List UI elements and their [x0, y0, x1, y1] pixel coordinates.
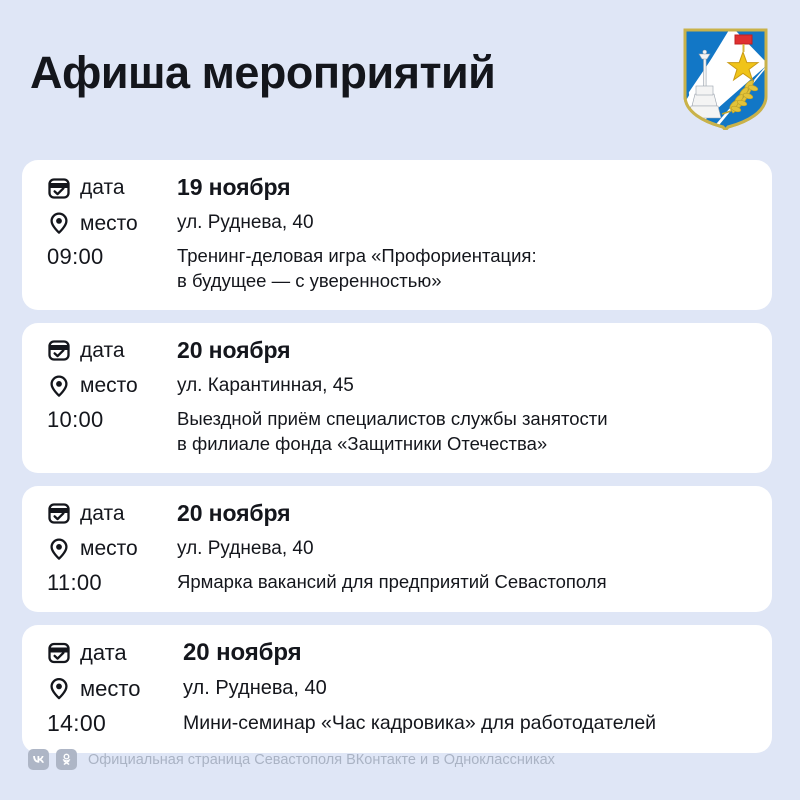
date-label-group: дата [47, 176, 177, 200]
event-place-row: место ул. Руднева, 40 [47, 211, 752, 235]
event-card[interactable]: дата 19 ноября место ул. Руднева, 40 09:… [22, 160, 772, 310]
event-description: Мини-семинар «Час кадровика» для работод… [183, 710, 656, 736]
event-date-value: 19 ноября [177, 174, 291, 201]
calendar-check-icon [47, 338, 71, 362]
event-card[interactable]: дата 20 ноября место ул. Карантинная, 45… [22, 323, 772, 473]
location-pin-icon [47, 537, 71, 561]
place-label: место [80, 213, 138, 234]
location-pin-icon [47, 374, 71, 398]
place-label-group: место [47, 677, 183, 701]
event-time-desc-row: 11:00 Ярмарка вакансий для предприятий С… [47, 570, 752, 596]
event-time-value: 09:00 [47, 244, 177, 270]
date-label-group: дата [47, 338, 177, 362]
event-place-value: ул. Руднева, 40 [177, 538, 314, 560]
place-label-group: место [47, 374, 177, 398]
place-label-group: место [47, 211, 177, 235]
event-description: Ярмарка вакансий для предприятий Севасто… [177, 570, 607, 595]
page-title: Афиша мероприятий [30, 48, 495, 98]
event-place-value: ул. Руднева, 40 [177, 212, 314, 234]
date-label: дата [80, 177, 125, 198]
event-card[interactable]: дата 20 ноября место ул. Руднева, 40 14:… [22, 625, 772, 753]
event-time-value: 11:00 [47, 570, 177, 596]
date-label: дата [80, 503, 125, 524]
event-description-line1: Тренинг-деловая игра «Профориентация: [177, 244, 537, 269]
event-date-row: дата 19 ноября [47, 174, 752, 201]
event-time-value: 14:00 [47, 710, 183, 737]
odnoklassniki-icon[interactable] [56, 749, 77, 770]
header: Афиша мероприятий [0, 0, 800, 150]
date-label-group: дата [47, 641, 183, 665]
event-card[interactable]: дата 20 ноября место ул. Руднева, 40 11:… [22, 486, 772, 612]
event-time-value: 10:00 [47, 407, 177, 433]
event-description-line1: Выездной приём специалистов службы занят… [177, 407, 608, 432]
place-label: место [80, 678, 140, 700]
event-description-line2: в филиале фонда «Защитники Отечества» [177, 432, 608, 457]
calendar-check-icon [47, 501, 71, 525]
place-label: место [80, 538, 138, 559]
event-time-desc-row: 10:00 Выездной приём специалистов службы… [47, 407, 752, 457]
event-description-line1: Ярмарка вакансий для предприятий Севасто… [177, 570, 607, 595]
event-description-line2: в будущее — с уверенностью» [177, 269, 537, 294]
event-description-line1: Мини-семинар «Час кадровика» для работод… [183, 710, 656, 736]
event-place-row: место ул. Карантинная, 45 [47, 374, 752, 398]
vk-icon[interactable] [28, 749, 49, 770]
event-date-row: дата 20 ноября [47, 639, 752, 667]
event-description: Выездной приём специалистов службы занят… [177, 407, 608, 457]
event-place-value: ул. Руднева, 40 [183, 677, 327, 700]
event-description: Тренинг-деловая игра «Профориентация: в … [177, 244, 537, 294]
sevastopol-coat-of-arms-icon [681, 26, 770, 130]
date-label: дата [80, 340, 125, 361]
place-label: место [80, 375, 138, 396]
date-label-group: дата [47, 501, 177, 525]
footer: Официальная страница Севастополя ВКонтак… [28, 749, 555, 770]
event-place-value: ул. Карантинная, 45 [177, 375, 354, 397]
event-time-desc-row: 14:00 Мини-семинар «Час кадровика» для р… [47, 710, 752, 737]
event-time-desc-row: 09:00 Тренинг-деловая игра «Профориентац… [47, 244, 752, 294]
event-date-value: 20 ноября [177, 337, 291, 364]
calendar-check-icon [47, 641, 71, 665]
event-date-row: дата 20 ноября [47, 337, 752, 364]
event-date-value: 20 ноября [183, 639, 301, 667]
poster-root: Афиша мероприятий [0, 0, 800, 800]
calendar-check-icon [47, 176, 71, 200]
event-date-row: дата 20 ноября [47, 500, 752, 527]
location-pin-icon [47, 677, 71, 701]
footer-text: Официальная страница Севастополя ВКонтак… [88, 752, 555, 768]
date-label: дата [80, 642, 127, 664]
events-list: дата 19 ноября место ул. Руднева, 40 09:… [22, 160, 772, 766]
event-place-row: место ул. Руднева, 40 [47, 537, 752, 561]
place-label-group: место [47, 537, 177, 561]
event-date-value: 20 ноября [177, 500, 291, 527]
event-place-row: место ул. Руднева, 40 [47, 677, 752, 701]
location-pin-icon [47, 211, 71, 235]
